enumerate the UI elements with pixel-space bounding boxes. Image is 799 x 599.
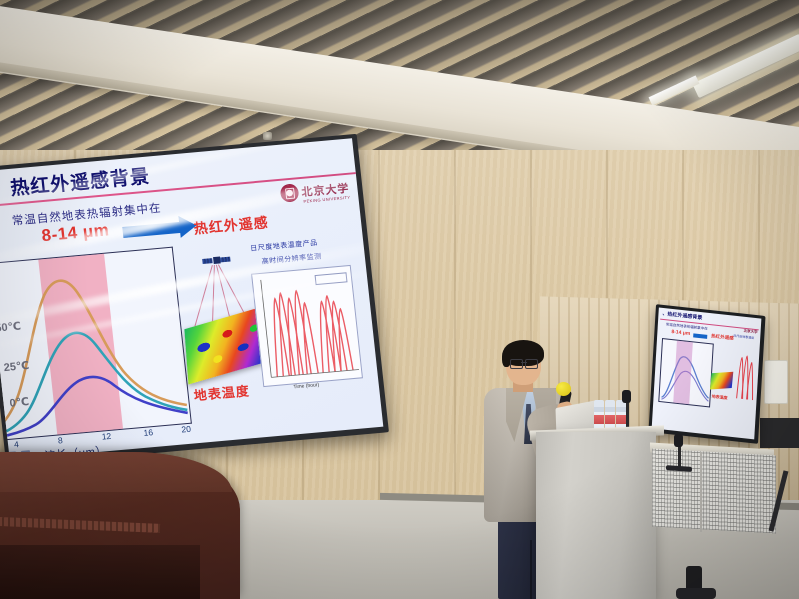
timeseries-chart bbox=[251, 265, 363, 387]
tv2-note: 日尺度地表温度 bbox=[733, 334, 754, 340]
lst-caption: 地表温度 bbox=[193, 380, 251, 404]
secondary-tv[interactable]: 、热红外遥感背景 北京大学 常温自然地表热辐射集中在 8-14 μm 热红外遥感… bbox=[648, 304, 765, 444]
chart-series-label-25c: 25℃ bbox=[3, 359, 30, 374]
wall-mounted-black-box bbox=[760, 418, 799, 448]
xtick-20: 20 bbox=[181, 424, 192, 435]
pku-seal-icon bbox=[280, 183, 300, 202]
tv2-lst-map bbox=[710, 372, 733, 390]
microphone-windscreen-icon bbox=[556, 382, 571, 396]
secondary-tv-screen: 、热红外遥感背景 北京大学 常温自然地表热辐射集中在 8-14 μm 热红外遥感… bbox=[652, 307, 762, 439]
tv2-chart bbox=[658, 338, 714, 408]
blackbody-radiation-chart: 50℃ 25℃ 0℃ bbox=[0, 247, 192, 443]
podium bbox=[536, 432, 656, 599]
timeseries-curves bbox=[252, 266, 362, 386]
tv2-tir-label: 热红外遥感 bbox=[711, 333, 734, 341]
counter-mic-capsule bbox=[674, 434, 683, 447]
chart-curves bbox=[0, 248, 191, 442]
thermal-ir-label: 热红外遥感 bbox=[193, 212, 270, 239]
radiator-panel-divider bbox=[700, 452, 702, 532]
xtick-16: 16 bbox=[143, 427, 154, 438]
sprinkler-head-icon bbox=[263, 132, 272, 140]
blue-arrow-icon bbox=[122, 222, 181, 238]
radiator-perforation bbox=[652, 449, 776, 534]
timeseries-x-label: Time (hour) bbox=[293, 382, 319, 390]
glasses-icon bbox=[510, 359, 538, 367]
tv2-lst-caption: 地表温度 bbox=[711, 394, 727, 402]
tv2-band-label: 8-14 μm bbox=[671, 329, 690, 337]
glasses-lens-right bbox=[525, 359, 538, 369]
xtick-8: 8 bbox=[57, 435, 63, 445]
glasses-lens-left bbox=[510, 359, 523, 369]
podium-mic-capsule bbox=[622, 390, 631, 403]
tv2-arrow-icon bbox=[693, 333, 707, 339]
speaker-leg-separation bbox=[530, 540, 532, 599]
satellite-beam-1 bbox=[194, 265, 212, 326]
wall-control-panel[interactable] bbox=[764, 360, 788, 404]
foreground-wood-base bbox=[0, 545, 200, 599]
slide-surface: 、热红外遥感背景 北京大学 PEKING UNIVERSITY 常温自然地表热辐… bbox=[0, 138, 383, 460]
chart-series-label-0c: 0℃ bbox=[9, 395, 30, 410]
presentation-screen[interactable]: 、热红外遥感背景 北京大学 PEKING UNIVERSITY 常温自然地表热辐… bbox=[0, 134, 389, 466]
xtick-12: 12 bbox=[101, 431, 112, 442]
satellite-wing-left bbox=[202, 258, 213, 264]
tv2-timeseries bbox=[733, 346, 756, 404]
slide-note-line-1: 日尺度地表温度产品 bbox=[250, 238, 318, 254]
floor-mic-base bbox=[676, 588, 716, 599]
slide-note-line-2: 高时间分辨率监测 bbox=[261, 251, 322, 266]
lecture-hall-photo: 、热红外遥感背景 北京大学 PEKING UNIVERSITY 常温自然地表热辐… bbox=[0, 0, 799, 599]
satellite-wing-right bbox=[220, 257, 231, 263]
chart-series-label-50c: 50℃ bbox=[0, 319, 22, 334]
